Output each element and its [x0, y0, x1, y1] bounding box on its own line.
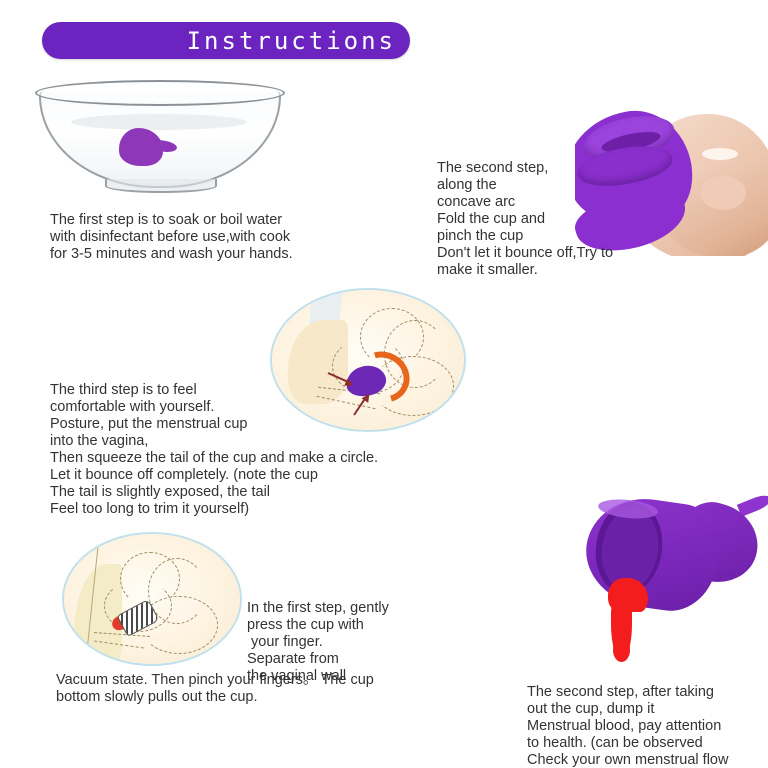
- menstrual-cup-in-bowl: [119, 128, 177, 166]
- cup-pouring-figure: [580, 492, 768, 668]
- blood-drip-tip: [613, 638, 630, 662]
- bowl-base: [105, 179, 217, 193]
- step-4b-caption: Vacuum state. Then pinch your fingers。 T…: [56, 672, 374, 706]
- glass-bowl-figure: [35, 78, 285, 190]
- page-title: Instructions: [187, 29, 396, 53]
- bowl-rim: [35, 80, 285, 106]
- hand-highlight: [702, 148, 738, 160]
- step-3-caption: The third step is to feel comfortable wi…: [50, 382, 378, 518]
- step-1-caption: The first step is to soak or boil water …: [50, 212, 293, 263]
- instructions-infographic: Instructions The first step is to soak o…: [0, 0, 768, 768]
- header-banner: Instructions: [42, 22, 410, 59]
- anatomy-removal-diagram: [62, 532, 242, 666]
- step-2-caption: The second step, along the concave arc F…: [437, 160, 613, 279]
- step-5-caption: The second step, after taking out the cu…: [527, 684, 728, 768]
